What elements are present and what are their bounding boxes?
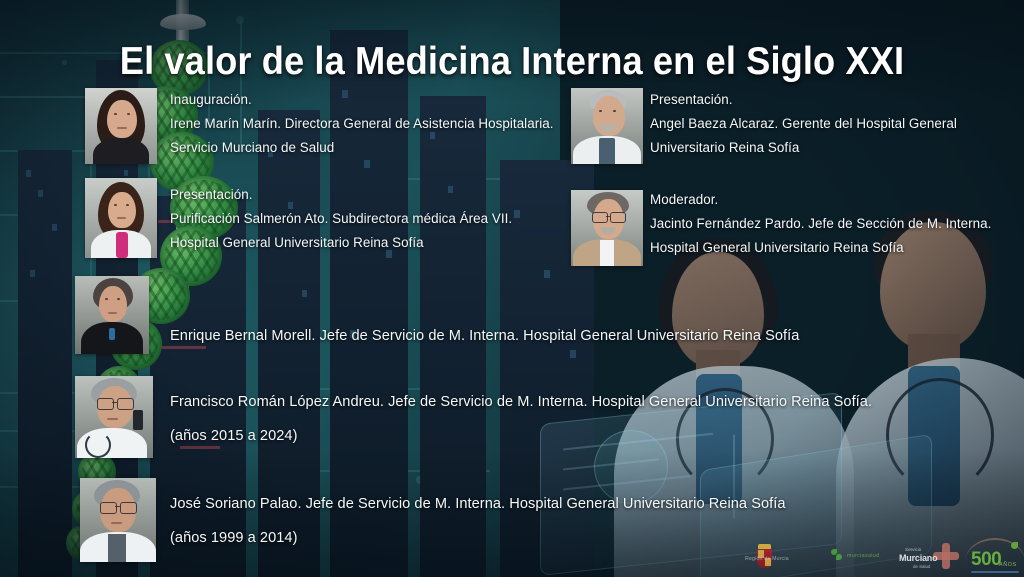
underline-bar <box>971 571 1019 573</box>
speaker-role: Inauguración. <box>170 88 554 112</box>
speaker-detail-1: Francisco Román López Andreu. Jefe de Se… <box>170 385 872 419</box>
portrait-irene-marin <box>85 88 157 164</box>
speaker-detail-2: (años 1999 a 2014) <box>170 521 786 555</box>
region-de-murcia-logo: Región de Murcia <box>745 544 825 572</box>
speaker-role: Presentación. <box>170 183 512 207</box>
servicio-murciano-salud-logo: Servicio Murciano de Salud <box>897 540 965 574</box>
footer-logo-bar: Región de Murcia murciasalud Servicio Mu… <box>735 538 1024 577</box>
speaker-block-presentacion-baeza: Presentación. Angel Baeza Alcaraz. Geren… <box>650 88 957 160</box>
portrait-francisco-roman-lopez <box>75 376 153 458</box>
presentation-slide: El valor de la Medicina Interna en el Si… <box>0 0 1024 577</box>
portrait-angel-baeza <box>571 88 643 164</box>
sms-line-1: Servicio <box>905 547 921 552</box>
speaker-role: Presentación. <box>650 88 957 112</box>
portrait-enrique-bernal <box>75 276 149 354</box>
green-entity-logo: murciasalud <box>831 548 893 566</box>
sprout-icon <box>1011 542 1018 549</box>
speaker-block-bernal: Enrique Bernal Morell. Jefe de Servicio … <box>170 319 799 353</box>
speaker-block-soriano: José Soriano Palao. Jefe de Servicio de … <box>170 487 786 555</box>
aniversario-number: 500 <box>971 549 1001 571</box>
speaker-detail-2: (años 2015 a 2024) <box>170 419 872 453</box>
portrait-purificacion-salmeron <box>85 178 157 258</box>
speaker-block-moderador: Moderador. Jacinto Fernández Pardo. Jefe… <box>650 188 991 260</box>
speaker-detail-1: Purificación Salmerón Ato. Subdirectora … <box>170 207 512 231</box>
green-entity-label: murciasalud <box>847 553 879 559</box>
speaker-detail-1: Angel Baeza Alcaraz. Gerente del Hospita… <box>650 112 957 136</box>
page-title: El valor de la Medicina Interna en el Si… <box>36 40 988 84</box>
speaker-detail-1: Enrique Bernal Morell. Jefe de Servicio … <box>170 319 799 353</box>
sms-line-2: Murciano <box>899 553 937 563</box>
portrait-jose-soriano <box>80 478 156 562</box>
speaker-detail-2: Servicio Murciano de Salud <box>170 136 554 160</box>
aniversario-suffix: AÑOS <box>999 562 1017 568</box>
speaker-detail-1: Jacinto Fernández Pardo. Jefe de Sección… <box>650 212 991 236</box>
speaker-detail-2: Universitario Reina Sofía <box>650 136 957 160</box>
speaker-detail-1: José Soriano Palao. Jefe de Servicio de … <box>170 487 786 521</box>
speaker-detail-2: Hospital General Universitario Reina Sof… <box>650 236 991 260</box>
portrait-jacinto-fernandez <box>571 190 643 266</box>
sms-line-3: de Salud <box>913 564 930 569</box>
speaker-detail-1: Irene Marín Marín. Directora General de … <box>170 112 554 136</box>
speaker-block-inauguracion: Inauguración. Irene Marín Marín. Directo… <box>170 88 554 160</box>
speaker-detail-2: Hospital General Universitario Reina Sof… <box>170 231 512 255</box>
region-murcia-label: Región de Murcia <box>745 556 789 562</box>
speaker-block-roman-lopez: Francisco Román López Andreu. Jefe de Se… <box>170 385 872 453</box>
speaker-block-presentacion-salmeron: Presentación. Purificación Salmerón Ato.… <box>170 183 512 255</box>
aniversario-500-logo: 500 AÑOS <box>967 538 1024 576</box>
leaf-icon <box>831 549 843 561</box>
speaker-role: Moderador. <box>650 188 991 212</box>
slide-content: El valor de la Medicina Interna en el Si… <box>0 0 1024 577</box>
